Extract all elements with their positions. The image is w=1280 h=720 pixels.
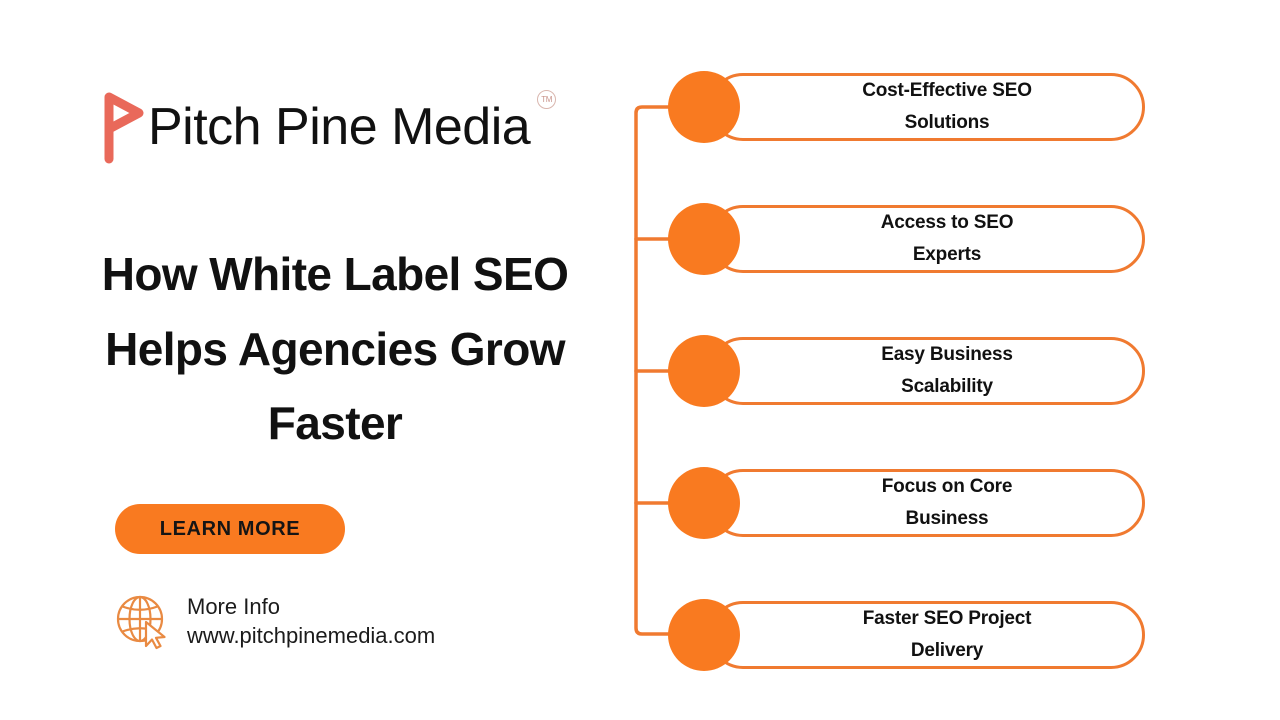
- benefit-pill-1[interactable]: Cost-Effective SEO Solutions: [709, 73, 1145, 141]
- benefit-pill-2[interactable]: Access to SEO Experts: [709, 205, 1145, 273]
- infographic-canvas: Pitch Pine Media TM How White Label SEO …: [0, 0, 1280, 720]
- benefit-bullet-4: [668, 467, 740, 539]
- page-title: How White Label SEO Helps Agencies Grow …: [55, 237, 615, 461]
- benefit-label-4-line1: Focus on Core: [882, 471, 1012, 503]
- benefit-label-3-line1: Easy Business: [881, 339, 1013, 371]
- contact-text: More Info www.pitchpinemedia.com: [187, 592, 435, 651]
- benefits-list: Cost-Effective SEO Solutions Access to S…: [630, 0, 1280, 720]
- benefit-label-4-line2: Business: [882, 503, 1012, 535]
- benefit-label-3-line2: Scalability: [881, 371, 1013, 403]
- benefit-pill-4[interactable]: Focus on Core Business: [709, 469, 1145, 537]
- benefit-label-5: Faster SEO Project Delivery: [863, 603, 1032, 667]
- brand-logo[interactable]: Pitch Pine Media TM: [100, 88, 530, 166]
- benefit-item-4[interactable]: Focus on Core Business: [668, 469, 1145, 537]
- benefit-label-3: Easy Business Scalability: [881, 339, 1013, 403]
- left-content-column: Pitch Pine Media TM How White Label SEO …: [0, 0, 630, 720]
- benefit-pill-3[interactable]: Easy Business Scalability: [709, 337, 1145, 405]
- globe-cursor-icon: [113, 592, 171, 650]
- benefit-label-5-line2: Delivery: [863, 635, 1032, 667]
- benefit-item-5[interactable]: Faster SEO Project Delivery: [668, 601, 1145, 669]
- pitch-pine-p-mark-icon: [100, 89, 146, 165]
- benefit-bullet-5: [668, 599, 740, 671]
- benefit-bullet-2: [668, 203, 740, 275]
- benefit-label-1: Cost-Effective SEO Solutions: [862, 75, 1032, 139]
- benefit-bullet-3: [668, 335, 740, 407]
- benefit-label-5-line1: Faster SEO Project: [863, 603, 1032, 635]
- contact-line-website[interactable]: www.pitchpinemedia.com: [187, 621, 435, 650]
- benefit-item-3[interactable]: Easy Business Scalability: [668, 337, 1145, 405]
- learn-more-button[interactable]: LEARN MORE: [115, 504, 345, 554]
- benefit-label-2-line2: Experts: [881, 239, 1014, 271]
- contact-info: More Info www.pitchpinemedia.com: [113, 592, 435, 651]
- trademark-icon: TM: [537, 90, 556, 109]
- benefit-label-2: Access to SEO Experts: [881, 207, 1014, 271]
- benefit-bullet-1: [668, 71, 740, 143]
- benefit-label-1-line1: Cost-Effective SEO: [862, 75, 1032, 107]
- benefit-item-1[interactable]: Cost-Effective SEO Solutions: [668, 73, 1145, 141]
- brand-wordmark-wrap: Pitch Pine Media TM: [148, 88, 530, 166]
- benefit-label-4: Focus on Core Business: [882, 471, 1012, 535]
- benefit-label-2-line1: Access to SEO: [881, 207, 1014, 239]
- benefit-label-1-line2: Solutions: [862, 107, 1032, 139]
- benefits-column: Cost-Effective SEO Solutions Access to S…: [630, 0, 1280, 720]
- contact-line-more-info: More Info: [187, 592, 435, 621]
- brand-wordmark-text: Pitch Pine Media: [148, 98, 530, 156]
- benefit-pill-5[interactable]: Faster SEO Project Delivery: [709, 601, 1145, 669]
- benefit-item-2[interactable]: Access to SEO Experts: [668, 205, 1145, 273]
